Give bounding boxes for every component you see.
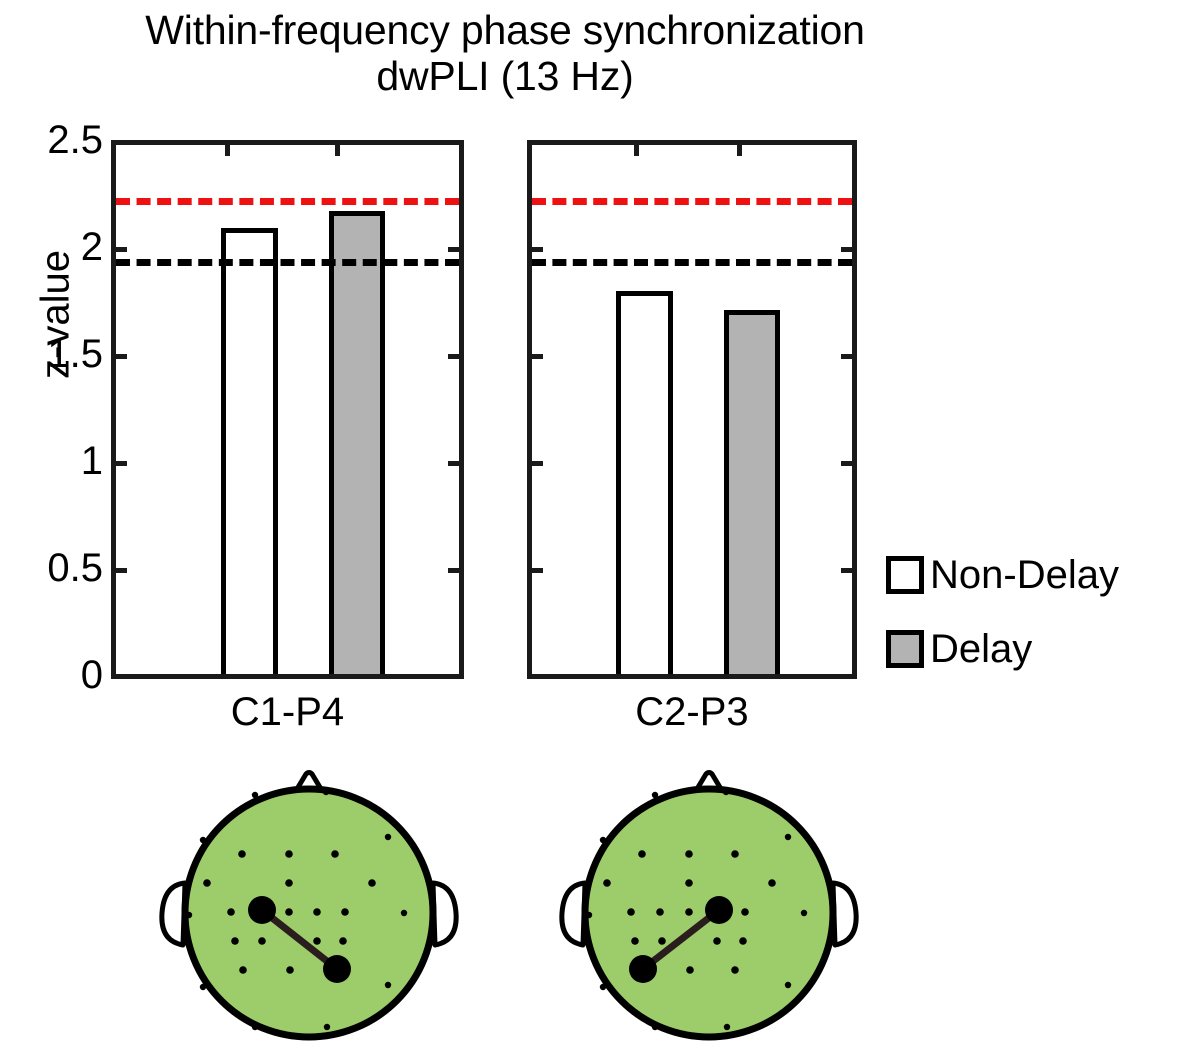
- tick-left-2-p2: [532, 247, 543, 252]
- threshold-line-red-p2: [532, 198, 852, 205]
- legend-swatch-delay: [886, 630, 924, 668]
- electrode-marker-c1: [248, 896, 276, 924]
- title-line-1: Within-frequency phase synchronization: [0, 8, 1010, 54]
- legend-label-non-delay: Non-Delay: [930, 553, 1119, 598]
- x-axis-label-c2-p3: C2-P3: [527, 690, 857, 735]
- tick-right-1: [448, 461, 459, 466]
- tick-left-1-p2: [532, 461, 543, 466]
- bar-c1p4-delay[interactable]: [329, 211, 385, 674]
- tick-top-2-p2: [737, 145, 742, 156]
- electrode-marker-p3: [629, 955, 657, 983]
- electrode-marker-c2: [705, 896, 733, 924]
- y-tick-2.5: 2.5: [3, 120, 103, 160]
- topoplot-c2-p3-svg: [545, 755, 885, 1055]
- y-tick-0: 0: [3, 655, 103, 695]
- plot-panel-c2-p3: [527, 140, 857, 679]
- legend-label-delay: Delay: [930, 627, 1032, 672]
- legend-item-non-delay[interactable]: Non-Delay: [886, 538, 1119, 612]
- legend: Non-Delay Delay: [886, 538, 1119, 686]
- threshold-line-red-p1: [116, 198, 459, 205]
- tick-right-1.5: [448, 354, 459, 359]
- electrode-marker-p4: [323, 955, 351, 983]
- y-tick-2: 2: [3, 227, 103, 267]
- tick-right-2: [448, 247, 459, 252]
- panel-1-inner: [116, 145, 459, 674]
- legend-item-delay[interactable]: Delay: [886, 612, 1119, 686]
- threshold-line-black-p2: [532, 259, 852, 266]
- tick-left-1.5: [116, 354, 127, 359]
- tick-left-0.5-p2: [532, 568, 543, 573]
- tick-right-1-p2: [841, 461, 852, 466]
- bar-c1p4-non-delay[interactable]: [221, 228, 278, 674]
- tick-right-0.5: [448, 568, 459, 573]
- tick-top-2: [335, 145, 340, 156]
- tick-left-1: [116, 461, 127, 466]
- tick-top-1-p2: [634, 145, 639, 156]
- tick-right-1.5-p2: [841, 354, 852, 359]
- y-tick-1.5: 1.5: [3, 334, 103, 374]
- topoplot-c1-p4-svg: [145, 755, 485, 1055]
- plot-panel-c1-p4: [111, 140, 464, 679]
- y-tick-1: 1: [3, 441, 103, 481]
- y-axis-ticks: 0 0.5 1 1.5 2 2.5: [0, 0, 103, 1058]
- threshold-line-black-p1: [116, 259, 459, 266]
- figure-root: Within-frequency phase synchronization d…: [0, 0, 1200, 1058]
- tick-right-0.5-p2: [841, 568, 852, 573]
- legend-swatch-non-delay: [886, 556, 924, 594]
- tick-left-2: [116, 247, 127, 252]
- bar-c2p3-delay[interactable]: [724, 310, 780, 674]
- tick-right-2-p2: [841, 247, 852, 252]
- figure-title: Within-frequency phase synchronization d…: [0, 8, 1010, 100]
- y-tick-0.5: 0.5: [3, 548, 103, 588]
- tick-top-1: [225, 145, 230, 156]
- topoplot-c1-p4: [145, 755, 485, 1055]
- x-axis-label-c1-p4: C1-P4: [111, 690, 464, 735]
- panel-2-inner: [532, 145, 852, 674]
- title-line-2: dwPLI (13 Hz): [0, 54, 1010, 100]
- scalp-circle: [185, 789, 433, 1037]
- bar-c2p3-non-delay[interactable]: [616, 291, 673, 674]
- tick-left-1.5-p2: [532, 354, 543, 359]
- tick-left-0.5: [116, 568, 127, 573]
- topoplot-c2-p3: [545, 755, 885, 1055]
